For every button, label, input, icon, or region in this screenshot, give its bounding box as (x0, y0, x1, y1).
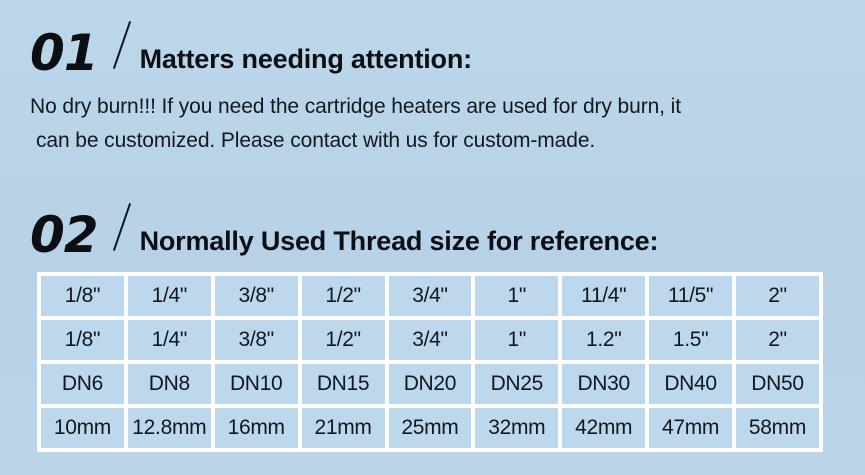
table-cell: 1.5" (647, 318, 734, 362)
table-row: 10mm12.8mm16mm21mm25mm32mm42mm47mm58mm (39, 406, 821, 450)
table-cell: 1" (473, 318, 560, 362)
table-row: 1/8"1/4"3/8"1/2"3/4"1"1.2"1.5"2" (39, 318, 821, 362)
table-cell: 3/4" (387, 274, 474, 318)
thread-size-table-body: 1/8"1/4"3/8"1/2"3/4"1"11/4"11/5"2"1/8"1/… (39, 274, 821, 450)
table-cell: 1/2" (300, 318, 387, 362)
table-cell: 12.8mm (126, 406, 213, 450)
section-title-02: Normally Used Thread size for reference: (140, 228, 659, 255)
table-row: DN6DN8DN10DN15DN20DN25DN30DN40DN50 (39, 362, 821, 406)
table-cell: DN20 (387, 362, 474, 406)
slash-divider-icon (108, 18, 138, 70)
table-cell: 47mm (647, 406, 734, 450)
infographic-page: 01 Matters needing attention: No dry bur… (0, 0, 865, 475)
table-cell: 1/8" (39, 274, 126, 318)
table-cell: 25mm (387, 406, 474, 450)
table-row: 1/8"1/4"3/8"1/2"3/4"1"11/4"11/5"2" (39, 274, 821, 318)
table-cell: 1/2" (300, 274, 387, 318)
section-title-01: Matters needing attention: (140, 46, 472, 73)
table-cell: 2" (734, 318, 821, 362)
attention-paragraph-line-2: can be customized. Please contact with u… (30, 124, 840, 158)
table-cell: 3/8" (213, 274, 300, 318)
attention-paragraph-line-1: No dry burn!!! If you need the cartridge… (30, 90, 840, 124)
table-cell: 11/4" (560, 274, 647, 318)
table-cell: DN15 (300, 362, 387, 406)
table-cell: DN8 (126, 362, 213, 406)
table-cell: 1/8" (39, 318, 126, 362)
table-cell: DN40 (647, 362, 734, 406)
table-cell: 2" (734, 274, 821, 318)
thread-size-table: 1/8"1/4"3/8"1/2"3/4"1"11/4"11/5"2"1/8"1/… (37, 272, 823, 452)
section-number-01: 01 (30, 28, 98, 78)
table-cell: 16mm (213, 406, 300, 450)
table-cell: 1/4" (126, 318, 213, 362)
table-cell: 3/4" (387, 318, 474, 362)
table-cell: 42mm (560, 406, 647, 450)
table-cell: 1.2" (560, 318, 647, 362)
table-cell: DN30 (560, 362, 647, 406)
section-number-02: 02 (30, 210, 98, 260)
attention-paragraph: No dry burn!!! If you need the cartridge… (30, 90, 840, 158)
table-cell: 10mm (39, 406, 126, 450)
table-cell: 21mm (300, 406, 387, 450)
table-cell: 3/8" (213, 318, 300, 362)
section-heading-01: 01 Matters needing attention: (30, 18, 472, 78)
table-cell: 32mm (473, 406, 560, 450)
table-cell: 11/5" (647, 274, 734, 318)
table-cell: 1" (473, 274, 560, 318)
slash-divider-icon (108, 200, 138, 252)
table-cell: 1/4" (126, 274, 213, 318)
section-heading-02: 02 Normally Used Thread size for referen… (30, 200, 658, 260)
table-cell: DN10 (213, 362, 300, 406)
table-cell: DN25 (473, 362, 560, 406)
table-cell: 58mm (734, 406, 821, 450)
table-cell: DN50 (734, 362, 821, 406)
table-cell: DN6 (39, 362, 126, 406)
